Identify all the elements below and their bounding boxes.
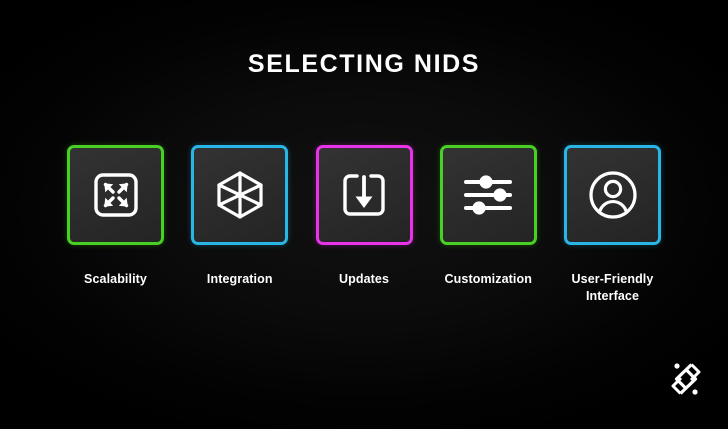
hexagon-segments-icon <box>213 169 267 221</box>
feature-card-updates[interactable] <box>316 145 413 245</box>
feature-card-user-friendly-interface[interactable] <box>564 145 661 245</box>
feature-label-updates: Updates <box>339 271 389 288</box>
feature-card-integration[interactable] <box>191 145 288 245</box>
feature-label-customization: Customization <box>445 271 532 288</box>
feature-card-customization[interactable] <box>440 145 537 245</box>
feature-label-scalability: Scalability <box>84 271 147 288</box>
feature-item-updates[interactable]: Updates <box>316 145 413 320</box>
feature-item-user-friendly-interface[interactable]: User-Friendly Interface <box>564 145 661 320</box>
diamond-s-monogram-logo <box>666 355 706 403</box>
sliders-icon <box>461 172 515 218</box>
page-title: SELECTING NIDS <box>0 49 728 79</box>
user-circle-icon <box>586 168 640 222</box>
feature-card-row: Scalability Integration <box>67 145 661 320</box>
feature-label-integration: Integration <box>207 271 273 288</box>
download-tray-icon <box>338 169 390 221</box>
feature-item-customization[interactable]: Customization <box>440 145 537 320</box>
feature-label-user-friendly-interface: User-Friendly Interface <box>558 271 668 305</box>
slide-canvas: SELECTING NIDS <box>0 0 728 429</box>
feature-item-scalability[interactable]: Scalability <box>67 145 164 320</box>
feature-item-integration[interactable]: Integration <box>191 145 288 320</box>
expand-arrows-icon <box>90 169 142 221</box>
feature-card-scalability[interactable] <box>67 145 164 245</box>
